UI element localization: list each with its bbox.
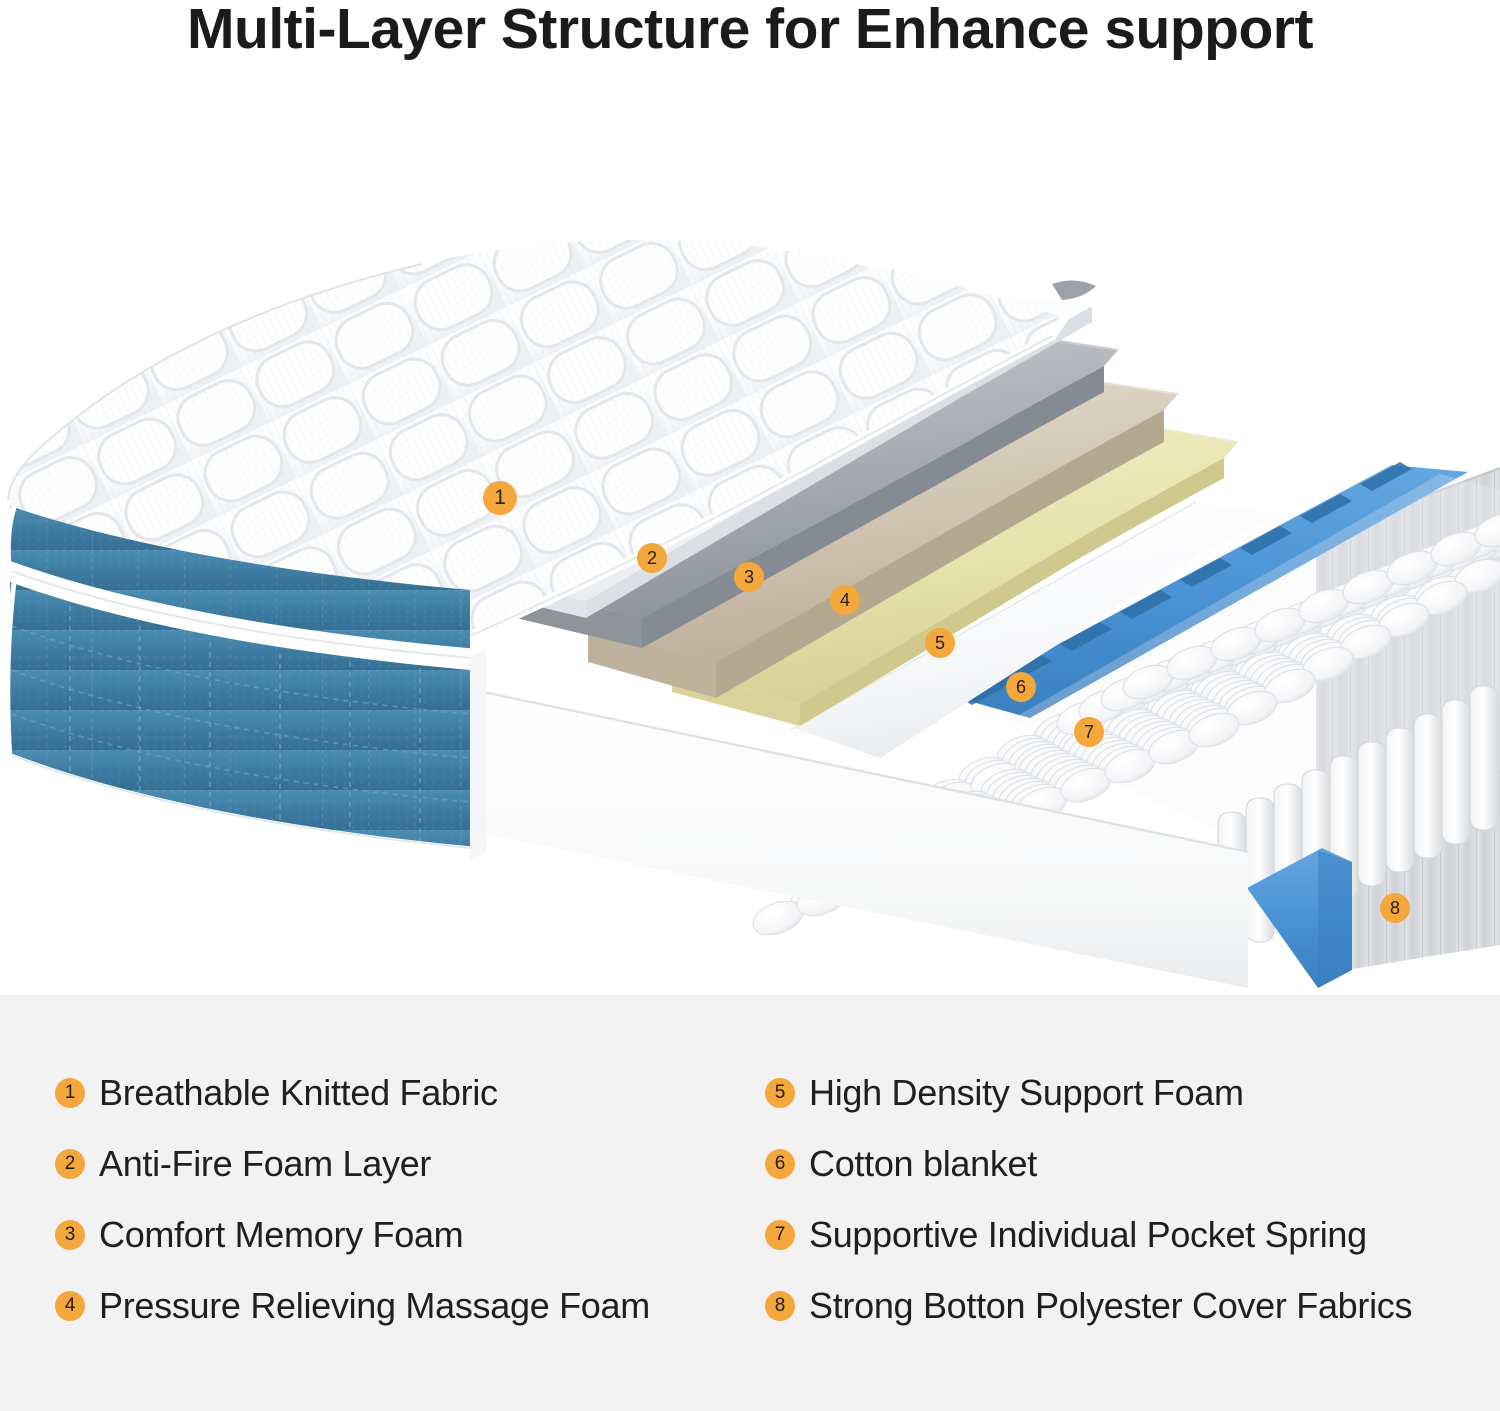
callout-badge-8: 8 — [1380, 893, 1410, 923]
legend-badge-1: 1 — [55, 1078, 85, 1108]
legend-label-2: Anti-Fire Foam Layer — [99, 1143, 431, 1185]
legend-label-1: Breathable Knitted Fabric — [99, 1072, 498, 1114]
legend-badge-2: 2 — [55, 1149, 85, 1179]
callout-badge-3: 3 — [734, 562, 764, 592]
legend-item-5: 5 High Density Support Foam — [765, 1072, 1455, 1114]
callout-badge-2: 2 — [637, 543, 667, 573]
legend-label-3: Comfort Memory Foam — [99, 1214, 463, 1256]
legend-badge-7: 7 — [765, 1220, 795, 1250]
callout-badge-6: 6 — [1006, 672, 1036, 702]
legend-badge-5: 5 — [765, 1078, 795, 1108]
legend-item-1: 1 Breathable Knitted Fabric — [55, 1072, 765, 1114]
legend-item-2: 2 Anti-Fire Foam Layer — [55, 1143, 765, 1185]
legend-grid: 1 Breathable Knitted Fabric 5 High Densi… — [55, 1057, 1455, 1341]
callout-badge-5: 5 — [925, 628, 955, 658]
legend-panel: 1 Breathable Knitted Fabric 5 High Densi… — [0, 995, 1500, 1411]
legend-label-8: Strong Botton Polyester Cover Fabrics — [809, 1285, 1412, 1327]
legend-item-3: 3 Comfort Memory Foam — [55, 1214, 765, 1256]
legend-label-4: Pressure Relieving Massage Foam — [99, 1285, 650, 1327]
legend-label-6: Cotton blanket — [809, 1143, 1037, 1185]
legend-item-4: 4 Pressure Relieving Massage Foam — [55, 1285, 765, 1327]
legend-label-5: High Density Support Foam — [809, 1072, 1244, 1114]
legend-label-7: Supportive Individual Pocket Spring — [809, 1214, 1367, 1256]
legend-badge-4: 4 — [55, 1291, 85, 1321]
legend-item-8: 8 Strong Botton Polyester Cover Fabrics — [765, 1285, 1455, 1327]
callout-badge-1: 1 — [483, 481, 517, 515]
legend-badge-8: 8 — [765, 1291, 795, 1321]
legend-item-7: 7 Supportive Individual Pocket Spring — [765, 1214, 1455, 1256]
legend-badge-6: 6 — [765, 1149, 795, 1179]
legend-badge-3: 3 — [55, 1220, 85, 1250]
page-title: Multi-Layer Structure for Enhance suppor… — [0, 0, 1500, 62]
product-infographic: Multi-Layer Structure for Enhance suppor… — [0, 0, 1500, 1411]
mattress-cutaway-illustration: 1 2 3 4 5 6 7 8 — [0, 70, 1500, 995]
legend-item-6: 6 Cotton blanket — [765, 1143, 1455, 1185]
callout-badge-7: 7 — [1074, 717, 1104, 747]
callout-badge-4: 4 — [830, 585, 860, 615]
